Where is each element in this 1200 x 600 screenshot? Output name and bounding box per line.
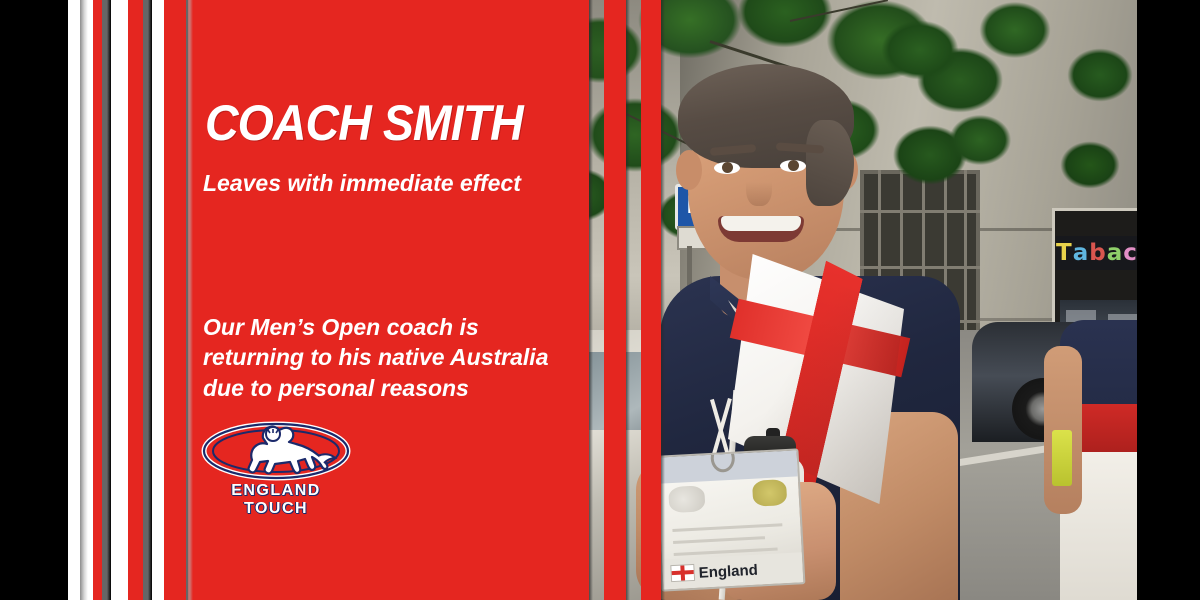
pupil [722,162,733,173]
hair-side [806,120,854,206]
england-flag-icon [670,564,695,582]
rugby-ball-oval-icon [200,420,352,482]
badge-logo-secondary [752,479,787,507]
bystander-badge [1052,430,1072,486]
pupil [788,160,799,171]
stripe-red [604,0,626,600]
body-copy: Our Men’s Open coach is returning to his… [203,312,553,403]
badge-country-label: England [698,562,758,582]
promo-graphic: Tabacc P [0,0,1200,600]
ear [676,150,702,190]
stripe-shadow [661,0,665,600]
logo-wordmark: ENGLAND TOUCH [200,482,352,518]
stripe-red [93,0,102,600]
stripe-white [111,0,128,600]
letterbox-left [0,0,68,600]
stripe-red [128,0,143,600]
accreditation-badge: England [655,448,806,591]
nose [746,166,772,206]
page-title: COACH SMITH [205,98,523,148]
tree-foliage [860,0,1138,290]
subheadline: Leaves with immediate effect [203,172,521,195]
england-touch-logo: ENGLAND TOUCH [200,420,352,512]
stripe-white [152,0,164,600]
stripe-shadow [589,0,593,600]
stripe-shadow [626,0,630,600]
badge-logo [668,485,705,513]
smiling-mouth [718,216,804,242]
letterbox-right [1137,0,1200,600]
stripe-red [565,0,589,600]
stripe-red [641,0,661,600]
lion-rampant-icon [249,427,335,474]
stripe-red [164,0,186,600]
